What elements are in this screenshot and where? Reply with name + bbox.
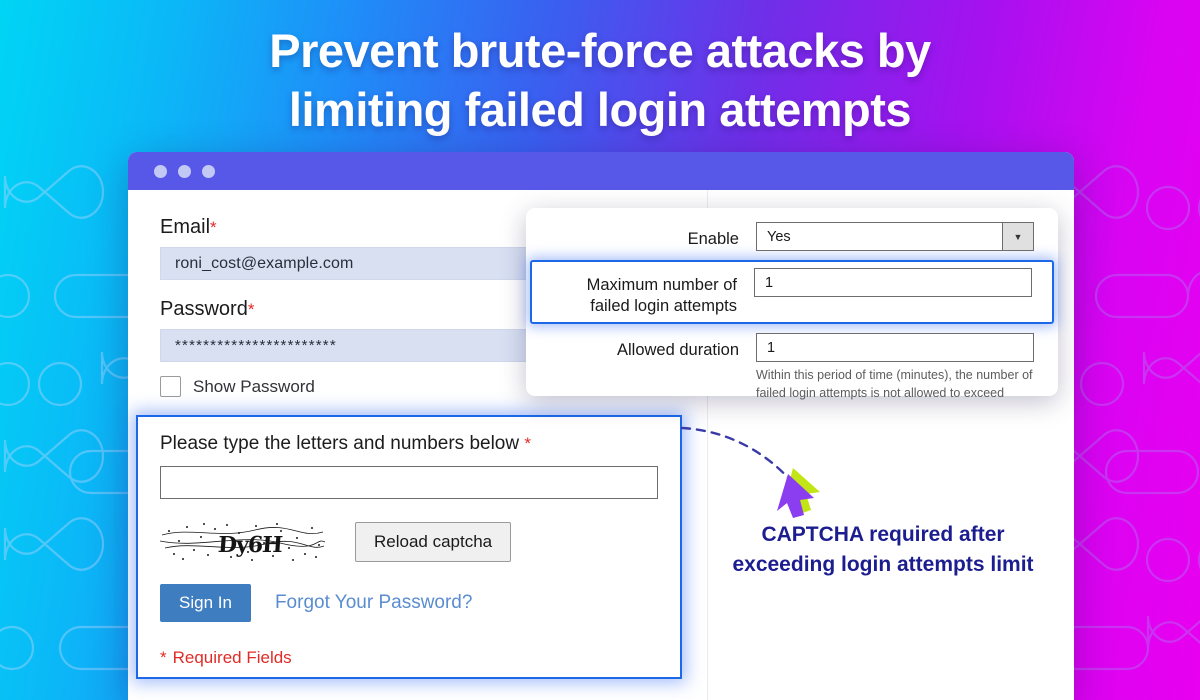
- allowed-duration-control: 1 Within this period of time (minutes), …: [756, 333, 1034, 402]
- annotation-line-1: CAPTCHA required after: [761, 523, 1004, 546]
- settings-popover: Enable Yes ▼ Maximum number of failed lo…: [526, 208, 1058, 396]
- browser-titlebar: [128, 152, 1074, 190]
- headline-line-2: limiting failed login attempts: [0, 81, 1200, 140]
- window-close-dot[interactable]: [154, 165, 167, 178]
- allowed-duration-input[interactable]: 1: [756, 333, 1034, 362]
- cursor-arrow-icon: [777, 468, 820, 518]
- reload-captcha-button[interactable]: Reload captcha: [355, 522, 511, 562]
- headline-line-1: Prevent brute-force attacks by: [269, 24, 931, 77]
- captcha-title: Please type the letters and numbers belo…: [160, 433, 658, 455]
- max-attempts-label-line-1: Maximum number of: [587, 276, 737, 294]
- sign-in-button[interactable]: Sign In: [160, 584, 251, 622]
- captcha-image-row: Dy6H Reload captcha: [160, 519, 658, 564]
- captcha-required-asterisk: *: [524, 434, 531, 453]
- setting-row-enable: Enable Yes ▼: [526, 217, 1058, 256]
- show-password-label: Show Password: [193, 377, 315, 397]
- captcha-input[interactable]: [160, 466, 658, 499]
- required-note-asterisk: *: [160, 648, 167, 667]
- enable-select[interactable]: Yes ▼: [756, 222, 1034, 251]
- max-attempts-input[interactable]: 1: [754, 268, 1032, 297]
- email-label-text: Email: [160, 216, 210, 238]
- chevron-down-icon[interactable]: ▼: [1002, 223, 1033, 250]
- show-password-checkbox[interactable]: [160, 376, 181, 397]
- enable-label: Enable: [534, 222, 756, 250]
- email-required-asterisk: *: [210, 218, 217, 237]
- enable-select-value: Yes: [757, 223, 1002, 250]
- annotation-text: CAPTCHA required after exceeding login a…: [700, 520, 1066, 580]
- password-required-asterisk: *: [248, 300, 255, 319]
- setting-row-max-attempts: Maximum number of failed login attempts …: [530, 260, 1054, 324]
- allowed-duration-hint: Within this period of time (minutes), th…: [756, 367, 1034, 402]
- max-attempts-label: Maximum number of failed login attempts: [536, 268, 754, 316]
- window-maximize-dot[interactable]: [202, 165, 215, 178]
- captcha-title-text: Please type the letters and numbers belo…: [160, 433, 519, 454]
- required-note-text: Required Fields: [173, 648, 292, 667]
- setting-row-allowed-duration: Allowed duration 1 Within this period of…: [526, 328, 1058, 407]
- enable-control: Yes ▼: [756, 222, 1034, 251]
- captcha-image: Dy6H: [160, 519, 325, 564]
- annotation-arrow: [680, 420, 840, 530]
- page-headline: Prevent brute-force attacks by limiting …: [0, 22, 1200, 140]
- password-label-text: Password: [160, 298, 248, 320]
- captcha-challenge-text: Dy6H: [217, 532, 283, 558]
- allowed-duration-label: Allowed duration: [534, 333, 756, 361]
- window-minimize-dot[interactable]: [178, 165, 191, 178]
- required-fields-note: *Required Fields: [160, 648, 658, 668]
- captcha-panel: Please type the letters and numbers belo…: [136, 415, 682, 679]
- login-actions: Sign In Forgot Your Password?: [160, 584, 658, 622]
- max-attempts-control: 1: [754, 268, 1032, 297]
- max-attempts-label-line-2: failed login attempts: [590, 297, 737, 315]
- forgot-password-link[interactable]: Forgot Your Password?: [275, 592, 473, 614]
- annotation-line-2: exceeding login attempts limit: [732, 553, 1033, 576]
